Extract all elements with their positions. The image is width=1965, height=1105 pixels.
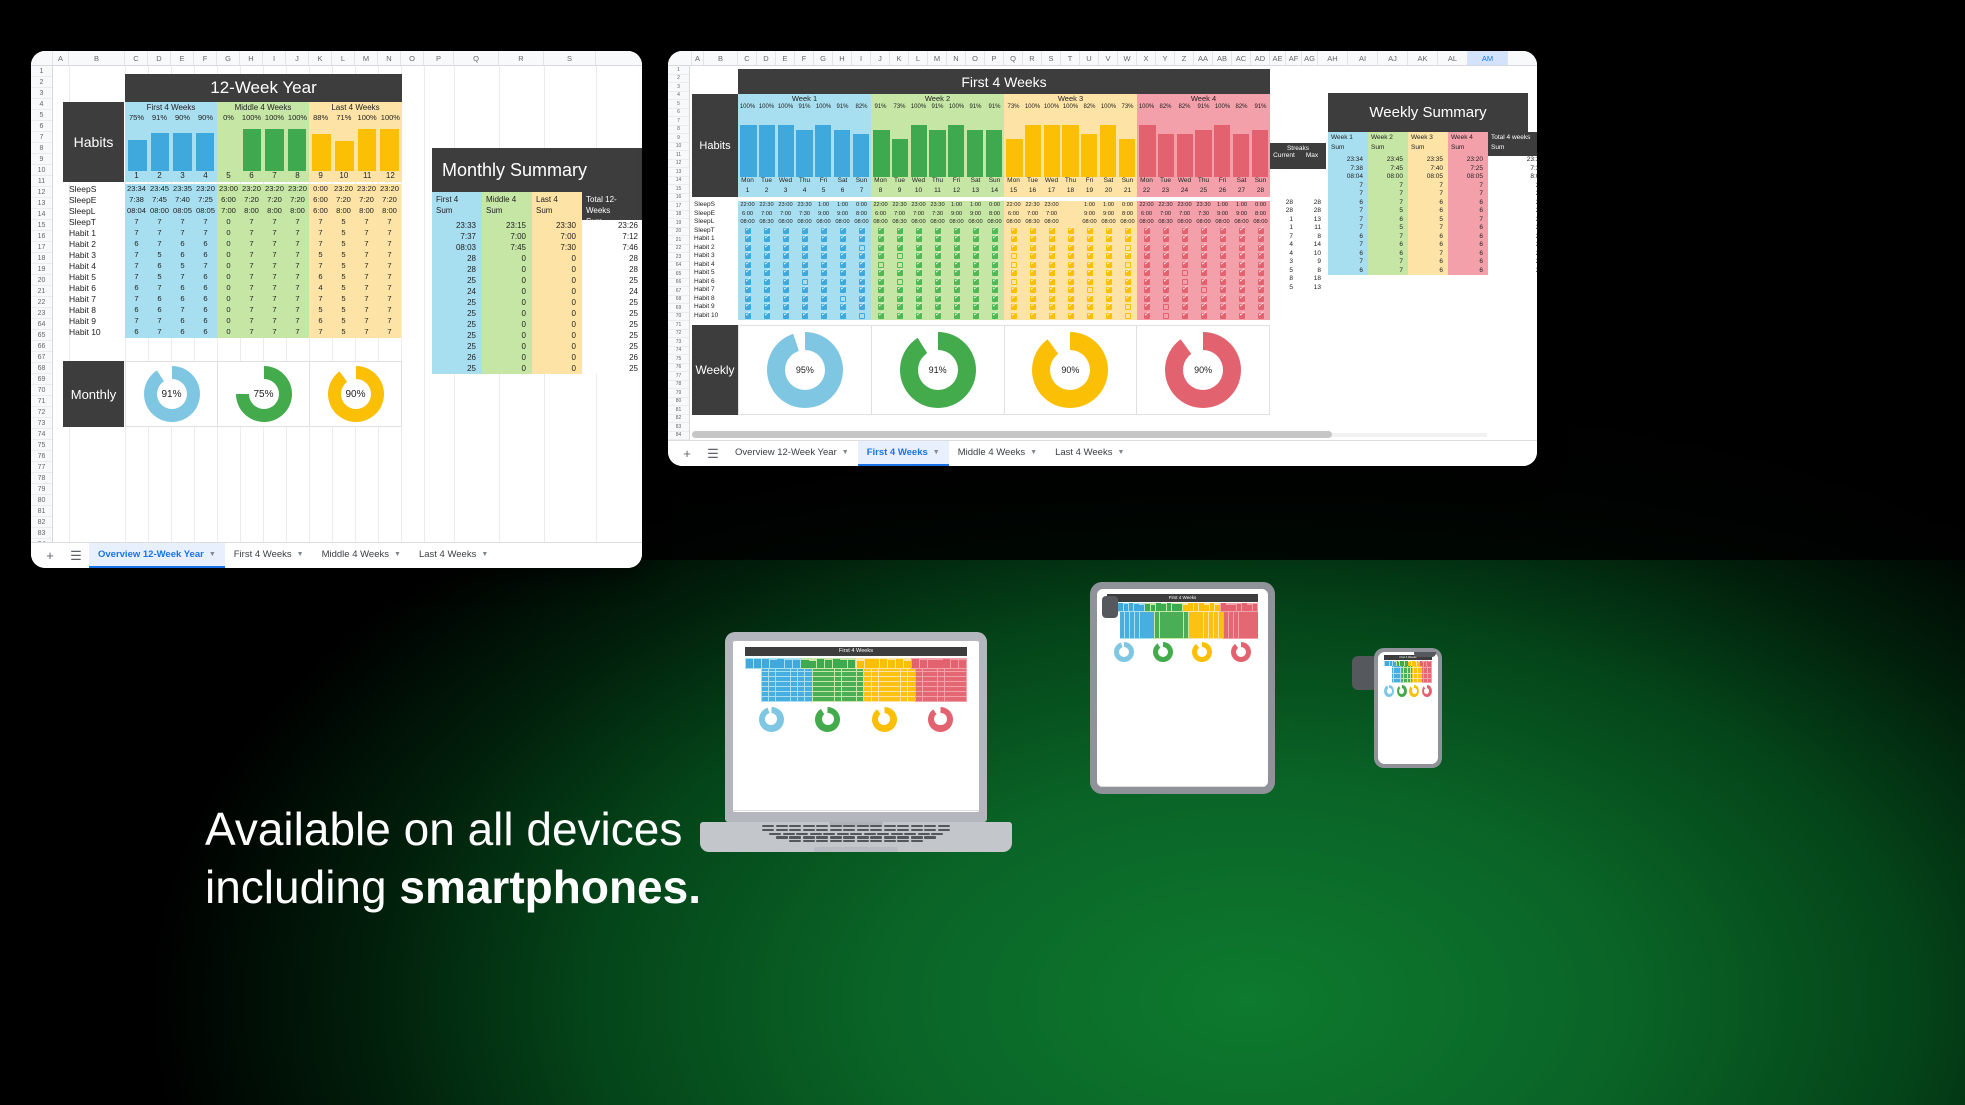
row-header-16[interactable]: 16: [668, 194, 689, 203]
checkbox-unchecked-icon[interactable]: [1125, 304, 1131, 310]
week-data-column-3[interactable]: 22:0022:3023:001:001:000:006:007:007:009…: [1004, 201, 1137, 320]
cell[interactable]: 7: [263, 327, 286, 338]
checkbox-cell[interactable]: [1175, 313, 1194, 319]
time-cell[interactable]: 8:00: [852, 210, 871, 219]
time-cell[interactable]: 7:00: [1023, 210, 1042, 219]
checkbox-cell[interactable]: [1004, 245, 1023, 251]
cell[interactable]: 7: [263, 261, 286, 272]
cell[interactable]: 23:35: [171, 184, 194, 195]
weekly-summary-cell[interactable]: 25: [1488, 233, 1537, 242]
checkbox-cell[interactable]: [1232, 313, 1251, 319]
checkbox-checked-icon[interactable]: [1125, 296, 1131, 302]
row-header-15[interactable]: 15: [31, 220, 52, 231]
column-header-A[interactable]: A: [692, 51, 704, 65]
weekly-summary-cell[interactable]: 6: [1448, 241, 1488, 250]
checkbox-checked-icon[interactable]: [859, 236, 865, 242]
row-header-9[interactable]: 9: [668, 134, 689, 143]
cell[interactable]: 7:20: [263, 195, 286, 206]
column-header-AE[interactable]: AE: [1270, 51, 1286, 65]
checkbox-cell[interactable]: [1175, 270, 1194, 276]
checkbox-checked-icon[interactable]: [916, 313, 922, 319]
weekly-summary-cell[interactable]: 28: [1488, 190, 1537, 199]
cell[interactable]: 7:20: [240, 195, 263, 206]
cell[interactable]: 7: [240, 305, 263, 316]
weekly-summary-cell[interactable]: 7: [1448, 182, 1488, 191]
cell[interactable]: 0: [217, 327, 240, 338]
time-cell[interactable]: 0:00: [985, 201, 1004, 210]
row-header-10[interactable]: 10: [31, 165, 52, 176]
cell[interactable]: 7:45: [148, 195, 171, 206]
weekly-summary-cell[interactable]: 28: [1488, 182, 1537, 191]
row-header-7[interactable]: 7: [668, 117, 689, 126]
cell[interactable]: 7: [240, 327, 263, 338]
checkbox-cell[interactable]: [871, 253, 890, 259]
cell[interactable]: 7: [286, 272, 309, 283]
table-row[interactable]: 776607776577: [125, 316, 401, 327]
weekly-summary-cell[interactable]: 6: [1408, 258, 1448, 267]
cell[interactable]: 7: [263, 217, 286, 228]
column-header-N[interactable]: N: [947, 51, 966, 65]
column-header-L[interactable]: L: [332, 51, 355, 65]
summary-cell[interactable]: 24: [582, 286, 642, 297]
cell[interactable]: 7: [378, 228, 401, 239]
cell[interactable]: 7: [240, 239, 263, 250]
summary-cell[interactable]: 25: [582, 319, 642, 330]
row-header-1[interactable]: 1: [668, 66, 689, 75]
sheet-tab-first-4-weeks[interactable]: First 4 Weeks▼: [858, 441, 949, 467]
cell[interactable]: 5: [171, 261, 194, 272]
checkbox-cell[interactable]: [814, 313, 833, 319]
summary-cell[interactable]: 0: [532, 275, 582, 286]
cell[interactable]: 7: [286, 283, 309, 294]
column-header-A[interactable]: A: [53, 51, 69, 65]
cell[interactable]: 0: [217, 316, 240, 327]
checkbox-checked-icon[interactable]: [935, 313, 941, 319]
cell[interactable]: 6: [194, 272, 217, 283]
cell[interactable]: 7: [194, 217, 217, 228]
cell[interactable]: 7: [286, 250, 309, 261]
checkbox-cell[interactable]: [1213, 313, 1232, 319]
row-header-18[interactable]: 18: [31, 253, 52, 264]
time-cell[interactable]: [1061, 210, 1080, 219]
row-header-21[interactable]: 21: [668, 236, 689, 245]
column-header-D[interactable]: D: [148, 51, 171, 65]
cell[interactable]: 6: [125, 305, 148, 316]
checkbox-checked-icon[interactable]: [954, 313, 960, 319]
cell[interactable]: 7: [263, 272, 286, 283]
summary-cell[interactable]: 25: [582, 330, 642, 341]
cell[interactable]: 23:20: [332, 184, 355, 195]
checkbox-cell[interactable]: [1099, 313, 1118, 319]
cell[interactable]: 7: [148, 217, 171, 228]
row-header-76[interactable]: 76: [31, 451, 52, 462]
summary-cell[interactable]: 7:45: [482, 242, 532, 253]
cell[interactable]: 7: [309, 327, 332, 338]
weekly-summary-cell[interactable]: 7: [1328, 182, 1368, 191]
weekly-summary-cell[interactable]: 25: [1488, 241, 1537, 250]
weekly-summary-cell[interactable]: 23:20: [1448, 156, 1488, 165]
row-header-64[interactable]: 64: [31, 319, 52, 330]
checkbox-checked-icon[interactable]: [821, 313, 827, 319]
checkbox-cell[interactable]: [1061, 313, 1080, 319]
weekly-summary-cell[interactable]: 6: [1408, 233, 1448, 242]
row-header-66[interactable]: 66: [668, 279, 689, 288]
checkbox-checked-icon[interactable]: [897, 245, 903, 251]
weekly-summary-cell[interactable]: 7:37: [1488, 165, 1537, 174]
cell[interactable]: 5: [332, 261, 355, 272]
weekly-summary-cell[interactable]: 08:00: [1368, 173, 1408, 182]
checkbox-checked-icon[interactable]: [802, 313, 808, 319]
chevron-down-icon[interactable]: ▼: [1117, 449, 1124, 456]
cell[interactable]: 7:20: [332, 195, 355, 206]
checkbox-cell[interactable]: [852, 236, 871, 242]
cell[interactable]: 7: [171, 305, 194, 316]
checkbox-checked-icon[interactable]: [1087, 279, 1093, 285]
cell[interactable]: 6: [171, 294, 194, 305]
time-cell[interactable]: 7:00: [1042, 210, 1061, 219]
time-cell[interactable]: 1:00: [1080, 201, 1099, 210]
cell[interactable]: 7: [355, 261, 378, 272]
cell[interactable]: 23:00: [217, 184, 240, 195]
column-header-O[interactable]: O: [401, 51, 424, 65]
table-row[interactable]: 777707777577: [125, 228, 401, 239]
column-header-R[interactable]: R: [1023, 51, 1042, 65]
time-cell[interactable]: 7:30: [795, 210, 814, 219]
table-row[interactable]: 08:0408:0008:0508:057:008:008:008:006:00…: [125, 206, 401, 217]
summary-column[interactable]: 23:337:3708:032828252425252525252625: [432, 220, 482, 374]
weekly-summary-cell[interactable]: 7: [1368, 182, 1408, 191]
summary-cell[interactable]: 25: [432, 297, 482, 308]
time-cell[interactable]: 8:00: [1118, 210, 1137, 219]
checkbox-cell[interactable]: [890, 270, 909, 276]
cell[interactable]: 0: [217, 305, 240, 316]
column-header-row[interactable]: ABCDEFGHIJKLMNOPQRS: [31, 51, 642, 66]
checkbox-checked-icon[interactable]: [1258, 313, 1264, 319]
cell[interactable]: 5: [332, 250, 355, 261]
row-header-80[interactable]: 80: [31, 495, 52, 506]
row-header-67[interactable]: 67: [31, 352, 52, 363]
checkbox-checked-icon[interactable]: [1011, 245, 1017, 251]
weekly-summary-cell[interactable]: 08:05: [1408, 173, 1448, 182]
row-header-70[interactable]: 70: [668, 313, 689, 322]
checkbox-checked-icon[interactable]: [1125, 236, 1131, 242]
summary-cell[interactable]: 0: [482, 275, 532, 286]
cell[interactable]: 7: [240, 261, 263, 272]
table-row[interactable]: 676607777577: [125, 239, 401, 250]
cell[interactable]: 7: [378, 327, 401, 338]
weekly-summary-cell[interactable]: 24: [1488, 207, 1537, 216]
weekly-summary-cell[interactable]: 6: [1448, 258, 1488, 267]
cell[interactable]: 7: [171, 272, 194, 283]
column-header-F[interactable]: F: [194, 51, 217, 65]
cell[interactable]: 6: [171, 283, 194, 294]
cell[interactable]: 7: [309, 217, 332, 228]
cell[interactable]: 7: [263, 283, 286, 294]
checkbox-cell[interactable]: [1175, 262, 1194, 268]
column-header-T[interactable]: T: [1061, 51, 1080, 65]
time-cell[interactable]: 23:30: [795, 201, 814, 210]
time-cell[interactable]: 8:00: [985, 210, 1004, 219]
cell[interactable]: 6:00: [217, 195, 240, 206]
summary-cell[interactable]: 23:26: [582, 220, 642, 231]
column-header-C[interactable]: C: [738, 51, 757, 65]
checkbox-cell[interactable]: [1004, 253, 1023, 259]
cell[interactable]: 7:40: [171, 195, 194, 206]
row-header-83[interactable]: 83: [668, 423, 689, 432]
time-cell[interactable]: 1:00: [966, 201, 985, 210]
summary-cell[interactable]: 28: [432, 264, 482, 275]
weekly-summary-cell[interactable]: 6: [1328, 250, 1368, 259]
checkbox-cell[interactable]: [1156, 296, 1175, 302]
sheet-tab-bar[interactable]: + ☰ Overview 12-Week Year▼First 4 Weeks▼…: [668, 440, 1537, 466]
summary-cell[interactable]: 23:30: [532, 220, 582, 231]
cell[interactable]: 6: [171, 316, 194, 327]
row-header-82[interactable]: 82: [668, 415, 689, 424]
sheet-tab-middle-4-weeks[interactable]: Middle 4 Weeks▼: [949, 441, 1046, 467]
row-header-82[interactable]: 82: [31, 517, 52, 528]
summary-cell[interactable]: 7:37: [432, 231, 482, 242]
checkbox-cell[interactable]: [1004, 270, 1023, 276]
checkbox-cell[interactable]: [1156, 304, 1175, 310]
time-cell[interactable]: [1061, 201, 1080, 210]
cell[interactable]: 0: [217, 283, 240, 294]
cell[interactable]: 6: [309, 272, 332, 283]
row-header-5[interactable]: 5: [31, 110, 52, 121]
summary-cell[interactable]: 0: [482, 330, 532, 341]
time-cell[interactable]: 9:00: [833, 210, 852, 219]
column-header-M[interactable]: M: [355, 51, 378, 65]
checkbox-checked-icon[interactable]: [840, 313, 846, 319]
time-cell[interactable]: 9:00: [814, 210, 833, 219]
cell[interactable]: 7: [286, 316, 309, 327]
row-header-73[interactable]: 73: [668, 338, 689, 347]
row-header-64[interactable]: 64: [668, 262, 689, 271]
cell[interactable]: 7: [355, 283, 378, 294]
spreadsheet-window-first-4-weeks[interactable]: ABCDEFGHIJKLMNOPQRSTUVWXYZAAABACADAEAFAG…: [668, 51, 1537, 466]
row-header-3[interactable]: 3: [668, 83, 689, 92]
checkbox-cell[interactable]: [890, 253, 909, 259]
checkbox-checked-icon[interactable]: [1201, 313, 1207, 319]
checkbox-checked-icon[interactable]: [878, 253, 884, 259]
time-cell[interactable]: 22:00: [1004, 201, 1023, 210]
cell[interactable]: 23:20: [240, 184, 263, 195]
chevron-down-icon[interactable]: ▼: [842, 449, 849, 456]
weekly-summary-cell[interactable]: 6: [1408, 207, 1448, 216]
column-header-G[interactable]: G: [217, 51, 240, 65]
cell[interactable]: 7: [194, 261, 217, 272]
row-header-20[interactable]: 20: [31, 275, 52, 286]
weekly-summary-cell[interactable]: 6: [1328, 233, 1368, 242]
weekly-summary-body[interactable]: 23:347:3808:047767776767623:457:4508:007…: [1328, 156, 1537, 275]
column-header-J[interactable]: J: [871, 51, 890, 65]
summary-cell[interactable]: 7:30: [532, 242, 582, 253]
weekly-summary-cell[interactable]: 6: [1368, 250, 1408, 259]
cell[interactable]: 7: [378, 305, 401, 316]
weekly-summary-cell[interactable]: 7:40: [1408, 165, 1448, 174]
weekly-summary-cell[interactable]: 7: [1368, 199, 1408, 208]
cell[interactable]: 7: [263, 305, 286, 316]
time-cell[interactable]: 7:30: [928, 210, 947, 219]
cell[interactable]: 7: [125, 272, 148, 283]
table-row[interactable]: 777707777577: [125, 217, 401, 228]
column-header-AJ[interactable]: AJ: [1378, 51, 1408, 65]
weekly-summary-cell[interactable]: 6: [1448, 267, 1488, 276]
time-cell[interactable]: 23:00: [1175, 201, 1194, 210]
cell[interactable]: 6: [194, 239, 217, 250]
column-header-Q[interactable]: Q: [1004, 51, 1023, 65]
checkbox-cell[interactable]: [1118, 296, 1137, 302]
cell[interactable]: 23:20: [286, 184, 309, 195]
cell[interactable]: 6: [194, 294, 217, 305]
column-header-AM[interactable]: AM: [1468, 51, 1508, 65]
weekly-summary-cell[interactable]: 7: [1328, 207, 1368, 216]
cell[interactable]: 6: [194, 250, 217, 261]
cell[interactable]: 7: [378, 272, 401, 283]
checkbox-checked-icon[interactable]: [1201, 279, 1207, 285]
table-row[interactable]: 23:3423:4523:3523:2023:0023:2023:2023:20…: [125, 184, 401, 195]
cell[interactable]: 8:00: [355, 206, 378, 217]
row-header-column[interactable]: 1234567891011121314151617181920212223646…: [668, 66, 690, 440]
cell[interactable]: 7:20: [286, 195, 309, 206]
row-header-19[interactable]: 19: [31, 264, 52, 275]
time-cell[interactable]: 1:00: [1213, 201, 1232, 210]
cell[interactable]: 6: [148, 305, 171, 316]
row-header-6[interactable]: 6: [668, 109, 689, 118]
checkbox-cell[interactable]: [1118, 313, 1137, 319]
summary-cell[interactable]: 0: [482, 319, 532, 330]
summary-cell[interactable]: 0: [532, 330, 582, 341]
row-header-22[interactable]: 22: [668, 245, 689, 254]
column-header-K[interactable]: K: [890, 51, 909, 65]
table-row[interactable]: 667607775577: [125, 305, 401, 316]
time-cell[interactable]: 9:00: [1099, 210, 1118, 219]
summary-cell[interactable]: 0: [532, 253, 582, 264]
cell[interactable]: 7: [125, 250, 148, 261]
summary-cell[interactable]: 0: [482, 363, 532, 374]
row-header-77[interactable]: 77: [668, 372, 689, 381]
column-header-V[interactable]: V: [1099, 51, 1118, 65]
summary-cell[interactable]: 0: [532, 363, 582, 374]
checkbox-checked-icon[interactable]: [992, 313, 998, 319]
time-cell[interactable]: 1:00: [1232, 201, 1251, 210]
horizontal-scrollbar[interactable]: [692, 431, 1487, 438]
column-header-S[interactable]: S: [1042, 51, 1061, 65]
time-cell[interactable]: 22:30: [1156, 201, 1175, 210]
column-header-X[interactable]: X: [1137, 51, 1156, 65]
time-cell[interactable]: 22:00: [738, 201, 757, 210]
weekly-summary-cell[interactable]: 7:45: [1368, 165, 1408, 174]
cell[interactable]: 7: [286, 261, 309, 272]
weekly-summary-cell[interactable]: 6: [1448, 207, 1488, 216]
time-cell[interactable]: 9:00: [966, 210, 985, 219]
cell[interactable]: 7: [286, 217, 309, 228]
cell[interactable]: 08:05: [194, 206, 217, 217]
row-header-76[interactable]: 76: [668, 364, 689, 373]
sheet-tab-last-4-weeks[interactable]: Last 4 Weeks▼: [410, 543, 497, 569]
cell[interactable]: 7: [148, 327, 171, 338]
weekly-summary-column[interactable]: 23:207:2508:0577667666666: [1448, 156, 1488, 275]
row-header-78[interactable]: 78: [31, 473, 52, 484]
checkbox-checked-icon[interactable]: [1011, 270, 1017, 276]
column-header-AC[interactable]: AC: [1232, 51, 1251, 65]
summary-cell[interactable]: 25: [582, 363, 642, 374]
cell[interactable]: 7: [378, 217, 401, 228]
time-cell[interactable]: 8:00: [1251, 210, 1270, 219]
row-header-69[interactable]: 69: [668, 304, 689, 313]
column-header-B[interactable]: B: [704, 51, 738, 65]
table-row[interactable]: 756607775577: [125, 250, 401, 261]
row-header-3[interactable]: 3: [31, 88, 52, 99]
cell[interactable]: 7: [240, 217, 263, 228]
column-header-H[interactable]: H: [240, 51, 263, 65]
time-cell[interactable]: 1:00: [1099, 201, 1118, 210]
cell[interactable]: 7: [148, 316, 171, 327]
checkbox-unchecked-icon[interactable]: [897, 253, 903, 259]
column-header-I[interactable]: I: [852, 51, 871, 65]
summary-cell[interactable]: 7:00: [532, 231, 582, 242]
cell[interactable]: 7: [378, 294, 401, 305]
row-header-81[interactable]: 81: [668, 406, 689, 415]
summary-cell[interactable]: 0: [482, 297, 532, 308]
cell[interactable]: 5: [148, 250, 171, 261]
row-header-70[interactable]: 70: [31, 385, 52, 396]
cell[interactable]: 7: [378, 316, 401, 327]
row-header-18[interactable]: 18: [668, 211, 689, 220]
weekly-summary-cell[interactable]: 25: [1488, 224, 1537, 233]
cell[interactable]: 6:00: [309, 195, 332, 206]
cell[interactable]: 7: [378, 250, 401, 261]
cell[interactable]: 7: [240, 250, 263, 261]
summary-cell[interactable]: 25: [432, 330, 482, 341]
column-header-I[interactable]: I: [263, 51, 286, 65]
checkbox-cell[interactable]: [1118, 253, 1137, 259]
checkbox-cell[interactable]: [1118, 236, 1137, 242]
weekly-summary-cell[interactable]: 7: [1368, 267, 1408, 276]
time-cell[interactable]: 22:30: [890, 201, 909, 210]
cell[interactable]: 7: [125, 316, 148, 327]
row-header-68[interactable]: 68: [31, 363, 52, 374]
monthly-summary-body[interactable]: 23:337:3708:03282825242525252525262523:1…: [432, 220, 642, 374]
cell[interactable]: 6: [194, 283, 217, 294]
chevron-down-icon[interactable]: ▼: [209, 551, 216, 558]
cell[interactable]: 7: [355, 250, 378, 261]
cell[interactable]: 08:05: [171, 206, 194, 217]
summary-cell[interactable]: 0: [482, 253, 532, 264]
weekly-summary-column[interactable]: 23:347:3808:0477677767676: [1328, 156, 1368, 275]
cell[interactable]: 8:00: [332, 206, 355, 217]
checkbox-cell[interactable]: [1080, 279, 1099, 285]
cell[interactable]: 7: [125, 294, 148, 305]
checkbox-checked-icon[interactable]: [783, 313, 789, 319]
time-cell[interactable]: 7:00: [1175, 210, 1194, 219]
row-header-7[interactable]: 7: [31, 132, 52, 143]
column-header-W[interactable]: W: [1118, 51, 1137, 65]
cell[interactable]: 7: [355, 228, 378, 239]
time-cell[interactable]: 1:00: [814, 201, 833, 210]
cell[interactable]: 23:34: [125, 184, 148, 195]
cell[interactable]: 7: [263, 239, 286, 250]
row-header-1[interactable]: 1: [31, 66, 52, 77]
time-cell[interactable]: 6:00: [871, 210, 890, 219]
summary-cell[interactable]: 7:46: [582, 242, 642, 253]
cell[interactable]: 7: [263, 294, 286, 305]
weekly-summary-column[interactable]: 23:457:4508:0077756576677: [1368, 156, 1408, 275]
row-header-77[interactable]: 77: [31, 462, 52, 473]
cell[interactable]: 7: [240, 294, 263, 305]
summary-cell[interactable]: 0: [532, 352, 582, 363]
summary-cell[interactable]: 24: [432, 286, 482, 297]
weekly-summary-cell[interactable]: 25: [1488, 250, 1537, 259]
